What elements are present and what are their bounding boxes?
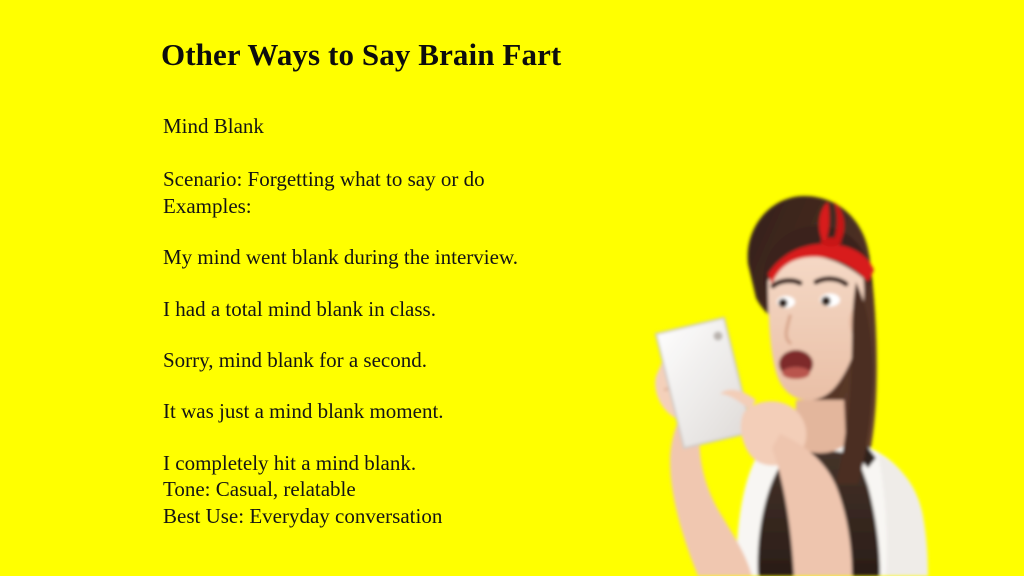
lower-lip [782,367,810,379]
pupil-left [779,299,788,308]
example-line-5: I completely hit a mind blank. [163,450,631,476]
page-title: Other Ways to Say Brain Fart [161,38,631,73]
text-column: Other Ways to Say Brain Fart Mind Blank … [161,38,631,529]
slide-canvas: Other Ways to Say Brain Fart Mind Blank … [0,0,1024,576]
pupil-right [821,296,830,305]
example-line-2: I had a total mind blank in class. [163,296,631,322]
example-line-3: Sorry, mind blank for a second. [163,347,631,373]
example-line-1: My mind went blank during the interview. [163,244,631,270]
section-heading: Mind Blank [163,113,631,139]
surprised-woman-photo [640,186,940,576]
tablet-camera [714,332,723,341]
tablet [656,318,752,448]
examples-label: Examples: [163,193,631,219]
example-line-4: It was just a mind blank moment. [163,398,631,424]
body-content: Mind Blank Scenario: Forgetting what to … [163,113,631,530]
scenario-line: Scenario: Forgetting what to say or do [163,166,631,192]
best-use-line: Best Use: Everyday conversation [163,503,631,529]
tone-line: Tone: Casual, relatable [163,476,631,502]
